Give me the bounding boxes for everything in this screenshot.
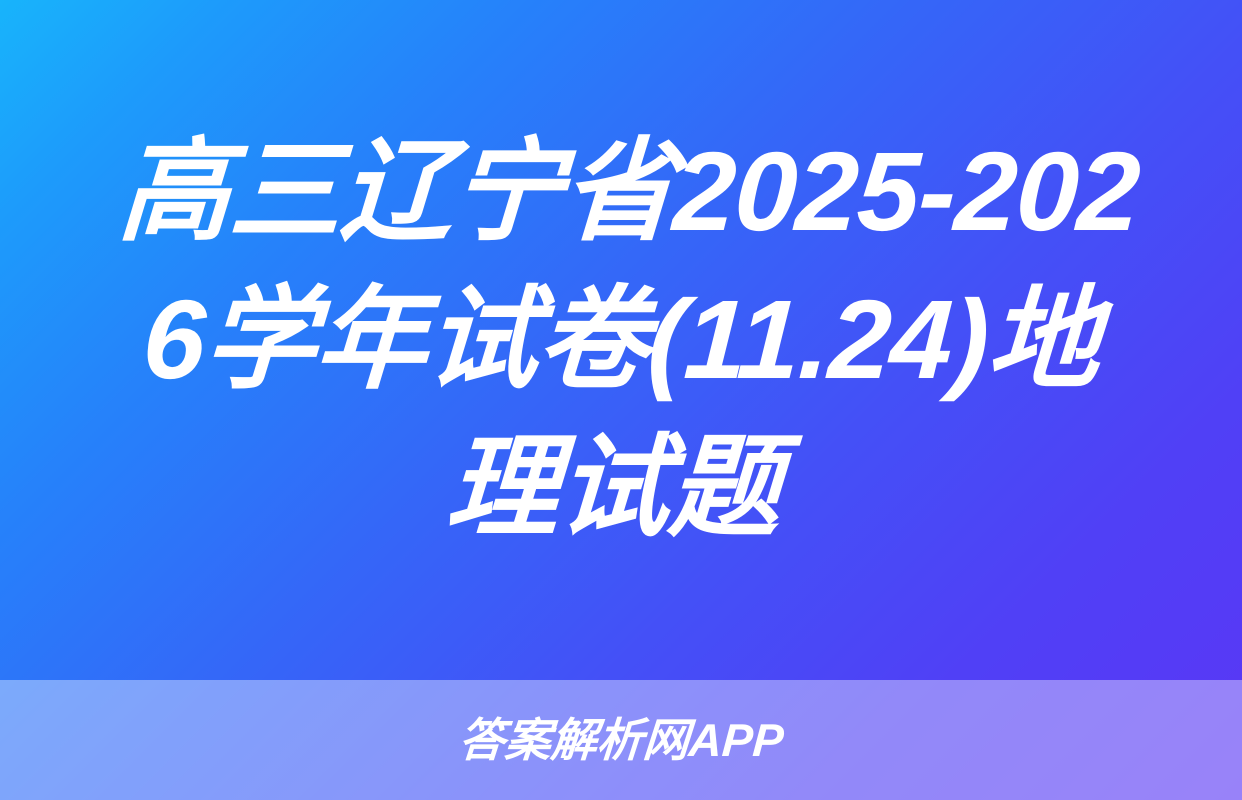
page-title: 高三辽宁省2025-2026学年试卷(11.24)地理试题: [83, 118, 1158, 562]
brand-banner: 答案解析网APP: [0, 680, 1242, 800]
exam-cover-card: 高三辽宁省2025-2026学年试卷(11.24)地理试题 答案解析网APP: [0, 0, 1242, 800]
title-area: 高三辽宁省2025-2026学年试卷(11.24)地理试题: [0, 0, 1242, 680]
brand-watermark-label: 答案解析网APP: [457, 717, 785, 763]
